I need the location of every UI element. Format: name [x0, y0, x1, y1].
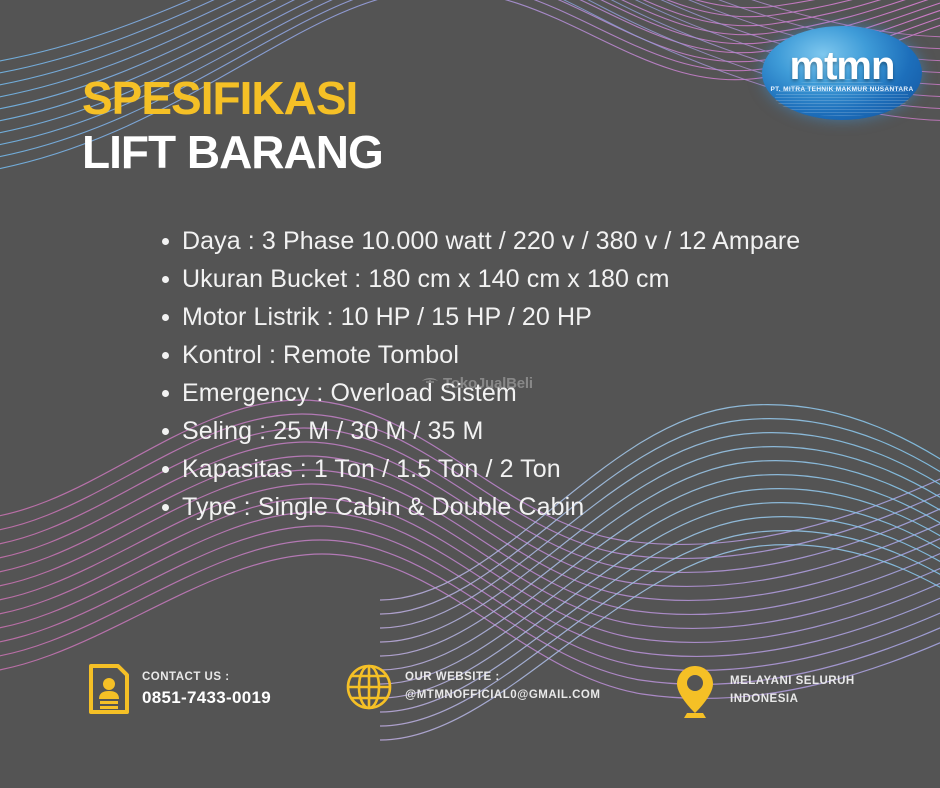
map-pin-icon [672, 663, 718, 719]
footer-contact-text: CONTACT US : 0851-7433-0019 [142, 669, 271, 709]
footer-location[interactable]: MELAYANI SELURUH INDONESIA [672, 663, 855, 719]
list-item: Type : Single Cabin & Double Cabin [156, 488, 856, 526]
title-line-lift-barang: LIFT BARANG [82, 128, 383, 176]
page-title: SPESIFIKASI LIFT BARANG [82, 74, 383, 177]
logo-wordmark: mtmn [762, 46, 922, 86]
contact-label: CONTACT US : [142, 669, 271, 687]
list-item: Daya : 3 Phase 10.000 watt / 220 v / 380… [156, 222, 856, 260]
logo-tagline: PT. MITRA TEHNIK MAKMUR NUSANTARA [762, 86, 922, 93]
list-item: Ukuran Bucket : 180 cm x 140 cm x 180 cm [156, 260, 856, 298]
list-item: Emergency : Overload Sistem [156, 374, 856, 412]
location-line-1: MELAYANI SELURUH [730, 673, 855, 691]
list-item: Seling : 25 M / 30 M / 35 M [156, 412, 856, 450]
footer-website[interactable]: OUR WEBSITE : @MTMNOFFICIAL0@GMAIL.COM [345, 663, 600, 711]
title-line-spesifikasi: SPESIFIKASI [82, 74, 383, 122]
globe-icon [345, 663, 393, 711]
poster-canvas: mtmn PT. MITRA TEHNIK MAKMUR NUSANTARA S… [0, 0, 940, 788]
mtmn-logo: mtmn PT. MITRA TEHNIK MAKMUR NUSANTARA [762, 26, 922, 120]
contact-phone: 0851-7433-0019 [142, 687, 271, 709]
list-item: Kapasitas : 1 Ton / 1.5 Ton / 2 Ton [156, 450, 856, 488]
list-item: Kontrol : Remote Tombol [156, 336, 856, 374]
specification-list: Daya : 3 Phase 10.000 watt / 220 v / 380… [156, 222, 856, 526]
footer-contact[interactable]: CONTACT US : 0851-7433-0019 [88, 663, 271, 715]
website-label: OUR WEBSITE : [405, 669, 600, 687]
location-line-2: INDONESIA [730, 691, 855, 709]
website-email: @MTMNOFFICIAL0@GMAIL.COM [405, 687, 600, 705]
footer-location-text: MELAYANI SELURUH INDONESIA [730, 673, 855, 709]
footer-bar: CONTACT US : 0851-7433-0019 OUR WEBSITE … [0, 655, 940, 745]
footer-website-text: OUR WEBSITE : @MTMNOFFICIAL0@GMAIL.COM [405, 669, 600, 705]
contact-card-icon [88, 663, 130, 715]
list-item: Motor Listrik : 10 HP / 15 HP / 20 HP [156, 298, 856, 336]
